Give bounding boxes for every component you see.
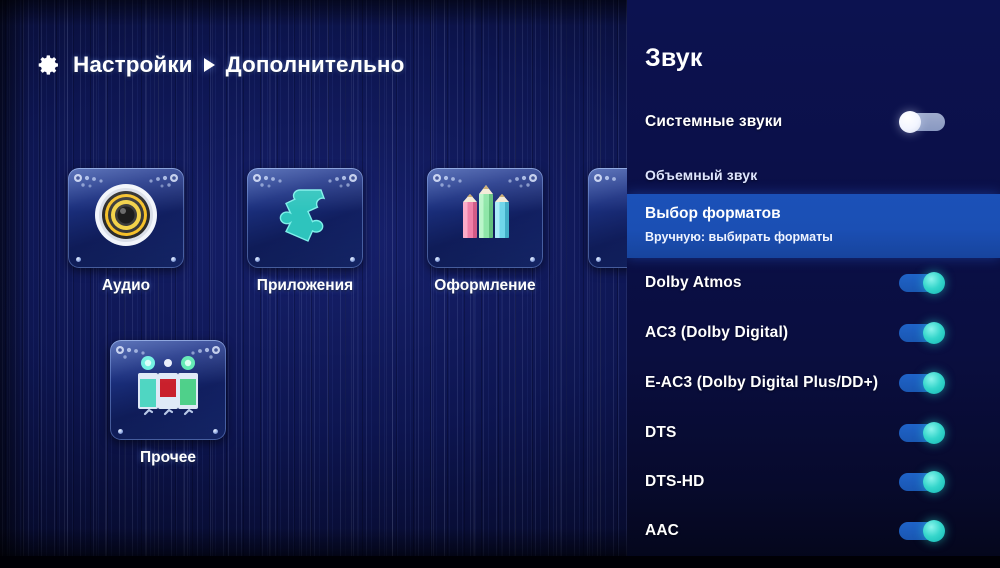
screen-bottom-edge: [0, 556, 1000, 568]
tile-card: [68, 168, 184, 268]
tile-card: [247, 168, 363, 268]
format-row-dts-hd[interactable]: DTS-HD: [627, 460, 1000, 504]
row-label: Dolby Atmos: [645, 274, 742, 292]
breadcrumb: Настройки Дополнительно: [36, 52, 404, 78]
toggle-knob: [923, 471, 945, 493]
setting-row-format-selection-selected[interactable]: Выбор форматов Вручную: выбирать форматы: [627, 194, 1000, 258]
tile-foot-dot: [118, 429, 123, 434]
tile-audio[interactable]: Аудио: [68, 168, 184, 295]
tile-foot-dot: [350, 257, 355, 262]
tv-settings-screen: Настройки Дополнительно: [0, 0, 1000, 568]
toggle-knob: [923, 372, 945, 394]
toggle-knob: [923, 520, 945, 542]
tile-foot-dot: [596, 257, 601, 262]
tile-other[interactable]: Прочее: [110, 340, 226, 467]
tile-label: Оформление: [427, 277, 543, 295]
toggle-knob: [899, 111, 921, 133]
tile-label: Приложения: [247, 277, 363, 295]
toggle-dts-hd[interactable]: [899, 471, 945, 493]
format-row-aac[interactable]: AAC: [627, 509, 1000, 553]
tile-foot-dot: [213, 429, 218, 434]
toggle-aac[interactable]: [899, 520, 945, 542]
setting-row-surround-sound[interactable]: Объемный звук: [627, 153, 1000, 197]
tile-applications[interactable]: Приложения: [247, 168, 363, 295]
toggle-eac3[interactable]: [899, 372, 945, 394]
row-label: E-AC3 (Dolby Digital Plus/DD+): [645, 374, 878, 392]
speaker-icon: [68, 176, 184, 254]
row-label: DTS: [645, 424, 676, 442]
breadcrumb-root[interactable]: Настройки: [73, 52, 193, 78]
format-row-ac3[interactable]: AC3 (Dolby Digital): [627, 311, 1000, 355]
selected-row-subtitle: Вручную: выбирать форматы: [645, 230, 833, 244]
format-row-eac3[interactable]: E-AC3 (Dolby Digital Plus/DD+): [627, 361, 1000, 405]
tile-foot-dot: [530, 257, 535, 262]
tile-foot-dot: [255, 257, 260, 262]
colored-pencils-icon: [427, 176, 543, 254]
toggle-dolby-atmos[interactable]: [899, 272, 945, 294]
tile-appearance[interactable]: Оформление: [427, 168, 543, 295]
toggle-ac3[interactable]: [899, 322, 945, 344]
tile-label: Прочее: [110, 449, 226, 467]
puzzle-piece-icon: [247, 176, 363, 254]
tile-foot-dot: [435, 257, 440, 262]
tile-card: [110, 340, 226, 440]
row-label: AAC: [645, 522, 679, 540]
toggle-dts[interactable]: [899, 422, 945, 444]
chevron-right-icon: [204, 58, 215, 72]
tile-label: Аудио: [68, 277, 184, 295]
row-label: DTS-HD: [645, 473, 704, 491]
tile-foot-dot: [171, 257, 176, 262]
row-label: Системные звуки: [645, 113, 782, 131]
panel-title: Звук: [645, 44, 703, 73]
gear-icon: [36, 52, 62, 78]
breadcrumb-current: Дополнительно: [226, 52, 405, 78]
tile-foot-dot: [76, 257, 81, 262]
selected-row-title: Выбор форматов: [645, 205, 781, 223]
tile-corner-dots: [593, 173, 627, 193]
toggle-knob: [923, 422, 945, 444]
setting-row-system-sounds[interactable]: Системные звуки: [627, 100, 1000, 144]
row-label: Объемный звук: [645, 167, 757, 183]
toggle-knob: [923, 272, 945, 294]
sound-settings-panel: Звук Системные звуки Объемный звук Выбор…: [627, 0, 1000, 568]
row-label: AC3 (Dolby Digital): [645, 324, 788, 342]
toggle-knob: [923, 322, 945, 344]
tile-card: [427, 168, 543, 268]
sliders-icon: [110, 348, 226, 426]
format-row-dolby-atmos[interactable]: Dolby Atmos: [627, 261, 1000, 305]
toggle-system-sounds[interactable]: [899, 111, 945, 133]
format-row-dts[interactable]: DTS: [627, 411, 1000, 455]
